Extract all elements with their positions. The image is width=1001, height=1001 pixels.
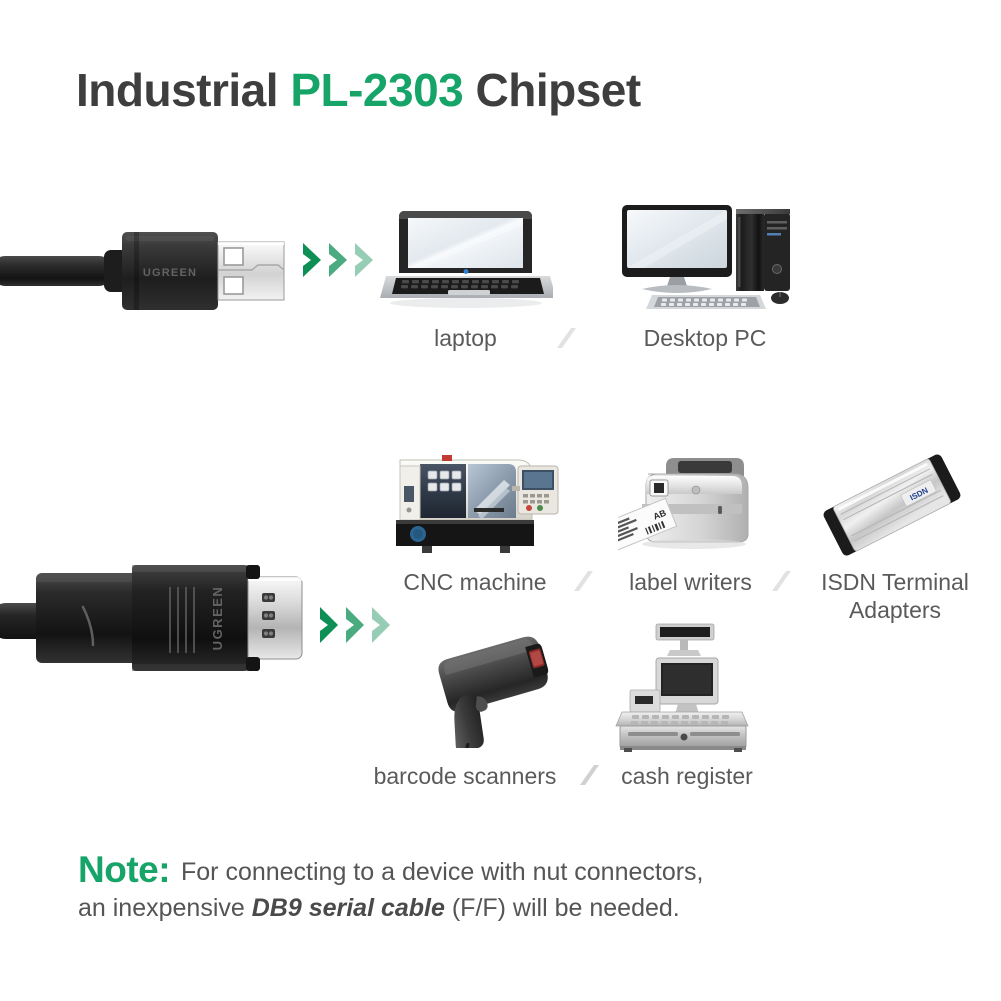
svg-text:UGREEN: UGREEN xyxy=(143,267,197,279)
infographic-page: Industrial PL-2303 Chipset xyxy=(0,0,1001,1001)
note-line-2-text-b: (F/F) will be needed. xyxy=(445,894,680,922)
title-part-2: Chipset xyxy=(463,64,640,116)
cash-register-icon xyxy=(608,618,758,753)
device-label-isdn-terminal-adapters: ISDN Terminal Adapters xyxy=(795,568,995,624)
note-block: Note: For connecting to a device with nu… xyxy=(78,852,938,926)
slash-1 xyxy=(553,325,579,351)
note-line-2: an inexpensive DB9 serial cable (F/F) wi… xyxy=(78,890,938,926)
note-line-1-text: For connecting to a device with nut conn… xyxy=(174,858,703,886)
slash-3 xyxy=(768,568,794,594)
svg-text:UGREEN: UGREEN xyxy=(210,586,225,651)
isdn-adapter-icon: ISDN xyxy=(812,450,972,560)
device-label-barcode-scanners: barcode scanners xyxy=(360,762,570,790)
laptop-icon xyxy=(378,205,553,320)
note-keyword: Note: xyxy=(78,849,170,890)
device-label-cnc-machine: CNC machine xyxy=(375,568,575,596)
usb-a-connector: UGREEN xyxy=(0,218,292,333)
note-line-2-text-a: an inexpensive xyxy=(78,894,252,922)
note-emphasis-db9-cable: DB9 serial cable xyxy=(252,894,445,922)
desktop-pc-icon xyxy=(614,197,799,319)
note-line-1: Note: For connecting to a device with nu… xyxy=(78,852,938,890)
device-label-label-writers: label writers xyxy=(608,568,773,596)
label-printer-icon: AB xyxy=(618,448,773,560)
device-label-desktop-pc: Desktop PC xyxy=(610,324,800,352)
arrow-indicator-top xyxy=(301,240,377,280)
title-part-1: Industrial xyxy=(76,64,290,116)
db9-serial-connector: UGREEN xyxy=(0,525,310,715)
device-label-laptop: laptop xyxy=(378,324,553,352)
barcode-scanner-icon xyxy=(418,628,578,748)
cnc-machine-icon xyxy=(382,438,572,558)
page-title: Industrial PL-2303 Chipset xyxy=(76,63,641,117)
slash-2 xyxy=(570,568,596,594)
title-accent-chipset-model: PL-2303 xyxy=(290,64,463,116)
device-label-cash-register: cash register xyxy=(602,762,772,790)
slash-4 xyxy=(576,762,602,788)
arrow-indicator-bottom xyxy=(318,603,394,647)
